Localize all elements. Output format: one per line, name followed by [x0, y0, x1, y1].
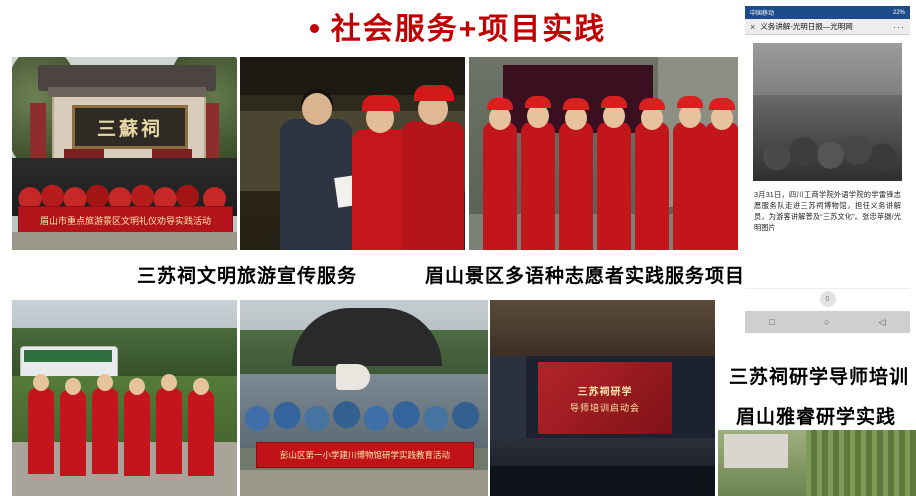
group-member-cap — [525, 96, 551, 108]
participant-head — [129, 378, 145, 395]
participant — [124, 390, 150, 476]
bamboo-grove — [806, 430, 916, 496]
phone-app-bar: × 义务讲解-光明日报—光明网 ··· — [745, 19, 910, 35]
building — [724, 434, 788, 468]
participant-head — [65, 378, 81, 395]
close-icon[interactable]: × — [750, 22, 755, 32]
event-banner-text: 彭山区第一小学建川博物馆研学实践教育活动 — [280, 449, 450, 461]
article-hero-image — [753, 43, 902, 181]
group-member-cap — [639, 98, 665, 110]
ground — [240, 470, 488, 496]
phone-status-bar: 中国移动 22% — [745, 6, 910, 19]
group-member — [483, 122, 517, 250]
vehicle-window — [24, 350, 112, 362]
title-bullet-icon — [310, 24, 319, 33]
nav-circle-icon[interactable]: ○ — [824, 317, 829, 327]
group-member — [635, 122, 669, 250]
screen-line-1: 三苏祠研学 — [578, 383, 633, 398]
group-member — [597, 122, 631, 250]
status-carrier: 中国移动 — [750, 8, 774, 17]
phone-article-body[interactable]: 3月31日，四川工商学院外语学院的学雷锋志愿服务队走进三苏祠博物馆，担任义务讲解… — [745, 35, 910, 311]
photo-volunteers-interview — [240, 57, 465, 250]
volunteer-cap-2 — [414, 85, 454, 101]
participant-head — [193, 378, 209, 395]
participant-head — [161, 374, 177, 391]
gate-plaque: 三蘇祠 — [72, 105, 188, 149]
group-member — [673, 122, 707, 250]
megaphone-icon — [336, 364, 370, 390]
participant — [156, 388, 182, 474]
group-member-cap — [601, 96, 627, 108]
group-member — [705, 122, 738, 250]
participant — [188, 390, 214, 476]
participant-head — [97, 374, 113, 391]
gate-roof-lower — [48, 87, 206, 97]
phone-article-title: 义务讲解-光明日报—光明网 — [760, 21, 853, 32]
caption-sansu-tourism: 三苏祠文明旅游宣传服务 — [137, 261, 357, 288]
participant-head — [33, 374, 49, 391]
article-paragraph: 3月31日，四川工商学院外语学院的学雷锋志愿服务队走进三苏祠博物馆，担任义务讲解… — [754, 189, 901, 234]
nav-square-icon[interactable]: □ — [770, 317, 775, 327]
participant — [60, 390, 86, 476]
more-icon[interactable]: ··· — [893, 22, 905, 32]
caption-sansu-mentor-training: 三苏祠研学导师培训 — [729, 362, 909, 389]
photo-school-banner: 彭山区第一小学建川博物馆研学实践教育活动 — [240, 300, 488, 496]
phone-nav-bar: □ ○ ◁ — [745, 311, 910, 333]
caption-meishan-yarui: 眉山雅睿研学实践 — [736, 402, 896, 429]
photo-conference-hall: 三苏祠研学 导师培训启动会 — [490, 300, 715, 496]
phone-like-bar: 0 — [745, 288, 910, 311]
ground — [12, 232, 237, 250]
group-member-cap — [709, 98, 735, 110]
volunteer-red-2 — [402, 121, 464, 250]
group-banner-text: 眉山市重点旅游景区文明礼仪劝导实践活动 — [40, 214, 211, 227]
stage-led-screen: 三苏祠研学 导师培训启动会 — [538, 362, 672, 434]
photo-field-activity — [12, 300, 237, 496]
photo-bamboo-building — [718, 430, 916, 496]
group-banner: 眉山市重点旅游景区文明礼仪劝导实践活动 — [18, 206, 233, 234]
photo-sansu-gate: 三蘇祠 眉山市重点旅游景区文明礼仪劝导实践活动 — [12, 57, 237, 250]
screen-line-2: 导师培训启动会 — [570, 401, 640, 414]
group-member-cap — [677, 96, 703, 108]
nav-back-icon[interactable]: ◁ — [879, 317, 886, 328]
person-head — [302, 93, 332, 125]
ceiling — [490, 300, 715, 356]
photo-volunteer-group — [469, 57, 738, 250]
event-banner: 彭山区第一小学建川博物馆研学实践教育活动 — [256, 442, 474, 468]
phone-screenshot: 中国移动 22% × 义务讲解-光明日报—光明网 ··· 3月31日，四川工商学… — [745, 6, 910, 333]
volunteer-cap-1 — [362, 95, 400, 111]
participant — [28, 388, 54, 474]
title-text: 社会服务+项目实践 — [331, 4, 607, 48]
group-member — [559, 122, 593, 250]
like-count-badge[interactable]: 0 — [820, 291, 836, 307]
front-seat-row — [490, 466, 715, 496]
status-battery: 22% — [893, 10, 905, 16]
side-wall — [490, 356, 526, 440]
hero-people — [753, 95, 902, 181]
caption-meishan-multilingual: 眉山景区多语种志愿者实践服务项目 — [425, 261, 745, 288]
group-member-cap — [563, 98, 589, 110]
participant — [92, 388, 118, 474]
group-member-cap — [487, 98, 513, 110]
group-member — [521, 122, 555, 250]
